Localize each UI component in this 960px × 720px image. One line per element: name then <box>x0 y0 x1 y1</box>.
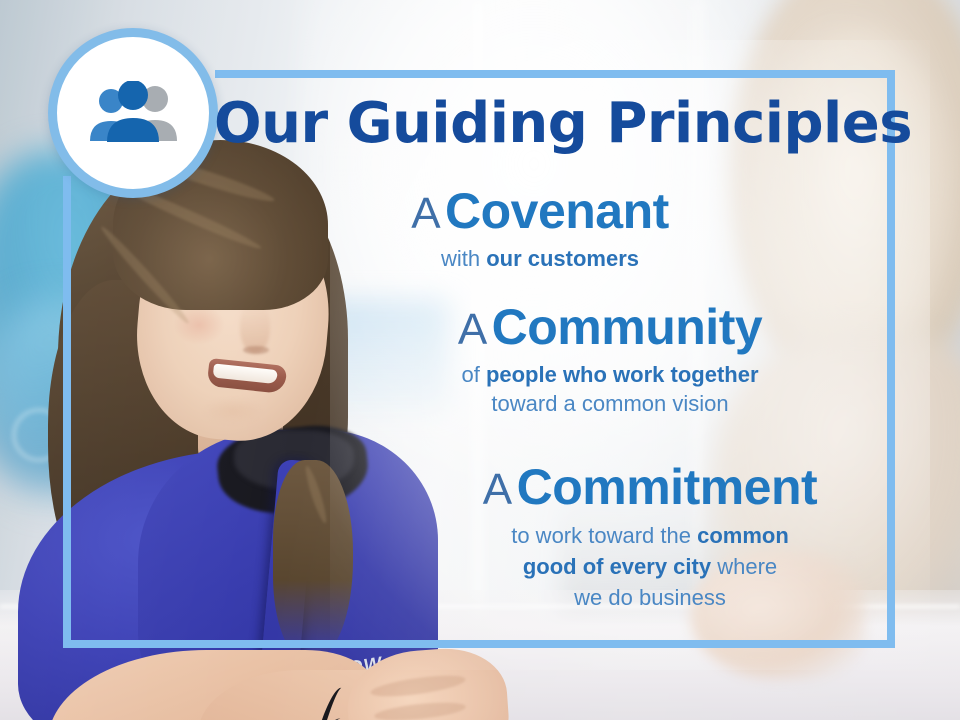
principle-description: with our customers <box>330 244 750 273</box>
principle-description: to work toward the commongood of every c… <box>400 520 900 614</box>
principle-word: Community <box>492 299 763 355</box>
people-group-icon-badge <box>48 28 218 198</box>
principle-word: Commitment <box>517 459 818 515</box>
principle-commitment: A Commitment to work toward the commongo… <box>400 462 900 614</box>
people-group-icon <box>87 81 179 145</box>
principle-covenant: A Covenant with our customers <box>330 186 750 273</box>
principle-article: A <box>483 465 512 514</box>
principle-heading: A Community <box>370 302 850 353</box>
page-title: Our Guiding Principles <box>214 96 864 152</box>
principle-heading: A Covenant <box>330 186 750 237</box>
principle-description: of people who work togethertoward a comm… <box>370 360 850 418</box>
principle-heading: A Commitment <box>400 462 900 513</box>
principle-article: A <box>411 189 440 238</box>
principle-article: A <box>458 305 487 354</box>
guiding-principles-graphic: FLOW AUTOMOTIVE FLOW <box>0 0 960 720</box>
principle-word: Covenant <box>445 183 669 239</box>
principle-community: A Community of people who work togethert… <box>370 302 850 418</box>
